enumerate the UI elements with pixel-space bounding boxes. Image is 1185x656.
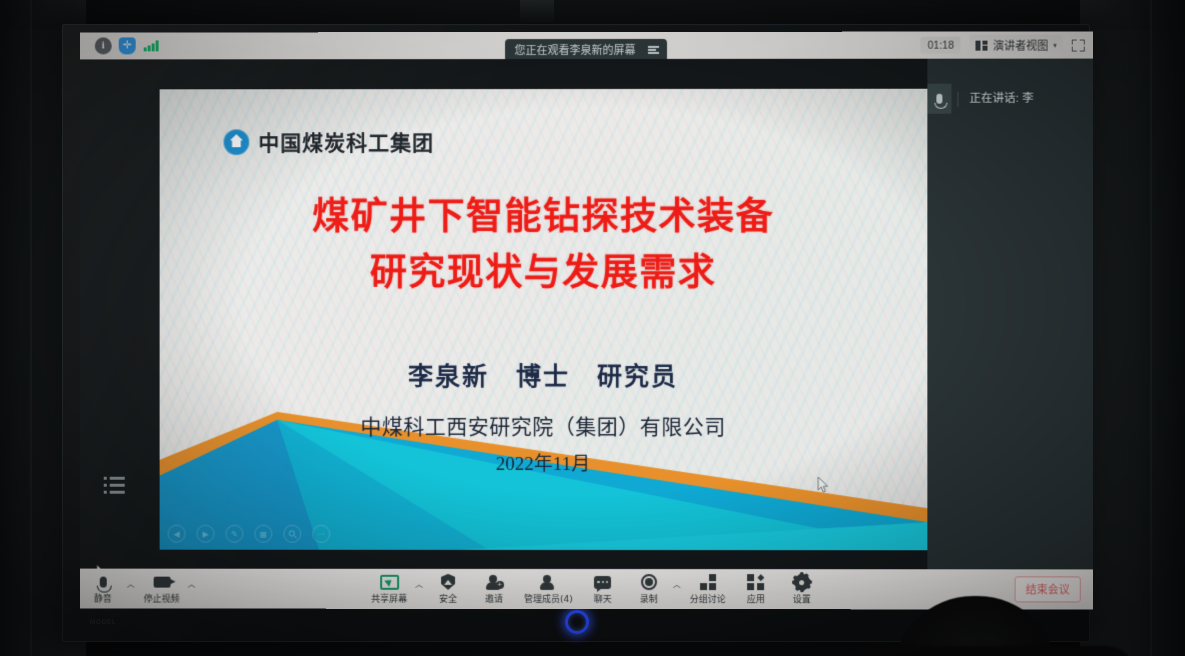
foreground-person-shoulders [836, 646, 1136, 656]
share-screen-button-label: 共享屏幕 [371, 591, 407, 604]
list-menu-icon[interactable] [104, 477, 125, 494]
slide-logo-text: 中国煤炭科工集团 [258, 127, 434, 157]
wall-seam [30, 0, 32, 656]
settings-button[interactable]: 设置 [779, 574, 825, 605]
share-screen-icon [380, 573, 399, 590]
slide-title: 煤矿井下智能钻探技术装备 研究现状与发展需求 [160, 189, 928, 302]
shield-icon[interactable]: ✛ [119, 37, 136, 54]
slide-thumbnails-icon[interactable]: ▦ [254, 525, 272, 543]
invite-button[interactable]: + 邀请 [471, 573, 517, 604]
mute-button-label: 静音 [94, 591, 112, 604]
zoom-meeting-window: i ✛ 您正在观看李泉新的屏幕 01:18 演讲者视图 ▾ [80, 32, 1093, 610]
shared-slide[interactable]: 中国煤炭科工集团 煤矿井下智能钻探技术装备 研究现状与发展需求 李泉新 博士 研… [160, 89, 928, 551]
apps-button[interactable]: 应用 [733, 574, 779, 605]
record-button[interactable]: 录制 [626, 574, 672, 605]
meeting-body: 中国煤炭科工集团 煤矿井下智能钻探技术装备 研究现状与发展需求 李泉新 博士 研… [80, 59, 1093, 570]
active-speaker-label: 正在讲话: 李 [957, 91, 1033, 106]
record-options-chevron-icon[interactable]: ︿ [672, 579, 683, 600]
record-button-label: 录制 [640, 592, 658, 605]
gear-icon [794, 574, 810, 591]
fullscreen-icon[interactable] [1072, 39, 1085, 51]
stop-video-button[interactable]: 停止视频 [137, 573, 187, 604]
record-icon [641, 574, 657, 591]
slide-organization: 中煤科工西安研究院（集团）有限公司 [160, 411, 928, 441]
share-banner-text: 您正在观看李泉新的屏幕 [515, 42, 636, 58]
security-button-label: 安全 [439, 591, 457, 604]
share-screen-button[interactable]: 共享屏幕 [364, 573, 414, 604]
chevron-down-icon[interactable]: ▾ [1053, 41, 1057, 49]
participants-button[interactable]: 管理成员(4) [517, 573, 580, 604]
share-options-chevron-icon[interactable]: ︿ [414, 578, 425, 599]
top-bar-left-icons: i ✛ [86, 37, 160, 54]
meeting-top-bar: i ✛ 您正在观看李泉新的屏幕 01:18 演讲者视图 ▾ [80, 32, 1093, 60]
chat-bubble-icon [594, 574, 611, 591]
stop-video-button-label: 停止视频 [144, 591, 180, 604]
slide-date: 2022年11月 [160, 449, 928, 476]
settings-button-label: 设置 [793, 592, 811, 605]
info-icon[interactable]: i [95, 37, 112, 54]
mute-button[interactable]: 静音 [80, 573, 126, 604]
next-slide-icon[interactable]: ▶ [197, 525, 215, 543]
pen-annotate-icon[interactable]: ✎ [225, 525, 243, 543]
network-signal-icon[interactable] [143, 37, 160, 54]
slide-author: 李泉新 博士 研究员 [160, 357, 928, 393]
speaker-view-icon [976, 40, 988, 50]
top-bar-right-controls: 01:18 演讲者视图 ▾ [921, 32, 1085, 59]
breakout-rooms-button-label: 分组讨论 [690, 592, 726, 605]
apps-button-label: 应用 [747, 592, 765, 605]
shield-icon [441, 573, 455, 590]
view-mode-label: 演讲者视图 [993, 37, 1048, 53]
microphone-icon [99, 573, 106, 590]
more-options-icon[interactable]: ··· [312, 525, 330, 543]
wall-display: MODEL i ✛ 您正在观看李泉新的屏幕 01:18 [62, 24, 1090, 642]
zoom-magnifier-icon[interactable] [283, 525, 301, 543]
breakout-rooms-button[interactable]: 分组讨论 [683, 574, 733, 605]
participant-panel: 正在讲话: 李 [927, 59, 1092, 570]
toolbar-left-group: 静音 ︿ 停止视频 ︿ [80, 573, 198, 604]
meeting-timer: 01:18 [921, 37, 961, 54]
toolbar-center-group: 共享屏幕 ︿ 安全 + 邀请 [364, 569, 825, 609]
invite-button-label: 邀请 [485, 591, 503, 604]
security-button[interactable]: 安全 [425, 573, 471, 604]
wall-seam [1150, 0, 1152, 656]
view-mode-selector[interactable]: 演讲者视图 ▾ [970, 35, 1063, 56]
display-power-led [565, 610, 589, 634]
mute-options-chevron-icon[interactable]: ︿ [126, 578, 137, 599]
left-rail [80, 59, 160, 568]
slide-logo: 中国煤炭科工集团 [223, 127, 434, 157]
active-speaker-chip: 正在讲话: 李 [927, 84, 1033, 114]
presenter-control-strip[interactable]: ◀ ▶ ✎ ▦ ··· [168, 525, 331, 543]
prev-slide-icon[interactable]: ◀ [168, 525, 186, 543]
breakout-rooms-icon [700, 574, 717, 591]
slide-title-line1: 煤矿井下智能钻探技术装备 [160, 189, 928, 245]
camera-icon [153, 573, 170, 590]
room-scene: MODEL i ✛ 您正在观看李泉新的屏幕 01:18 [0, 0, 1185, 656]
end-meeting-button[interactable]: 结束会议 [1015, 576, 1081, 602]
apps-icon [747, 574, 764, 591]
chat-button-label: 聊天 [594, 592, 612, 605]
ceiling-fixture [520, 0, 554, 22]
slide-title-line2: 研究现状与发展需求 [160, 245, 928, 301]
participants-button-label: 管理成员(4) [524, 591, 573, 604]
invite-person-icon: + [486, 573, 503, 590]
chat-button[interactable]: 聊天 [580, 573, 626, 604]
wall-right [1080, 0, 1185, 656]
video-options-chevron-icon[interactable]: ︿ [187, 578, 198, 599]
ccteg-emblem-icon [223, 129, 249, 155]
participants-icon [540, 573, 557, 590]
microphone-icon [927, 84, 951, 114]
display-brand-label: MODEL [90, 620, 116, 626]
hamburger-menu-icon[interactable] [648, 46, 659, 53]
